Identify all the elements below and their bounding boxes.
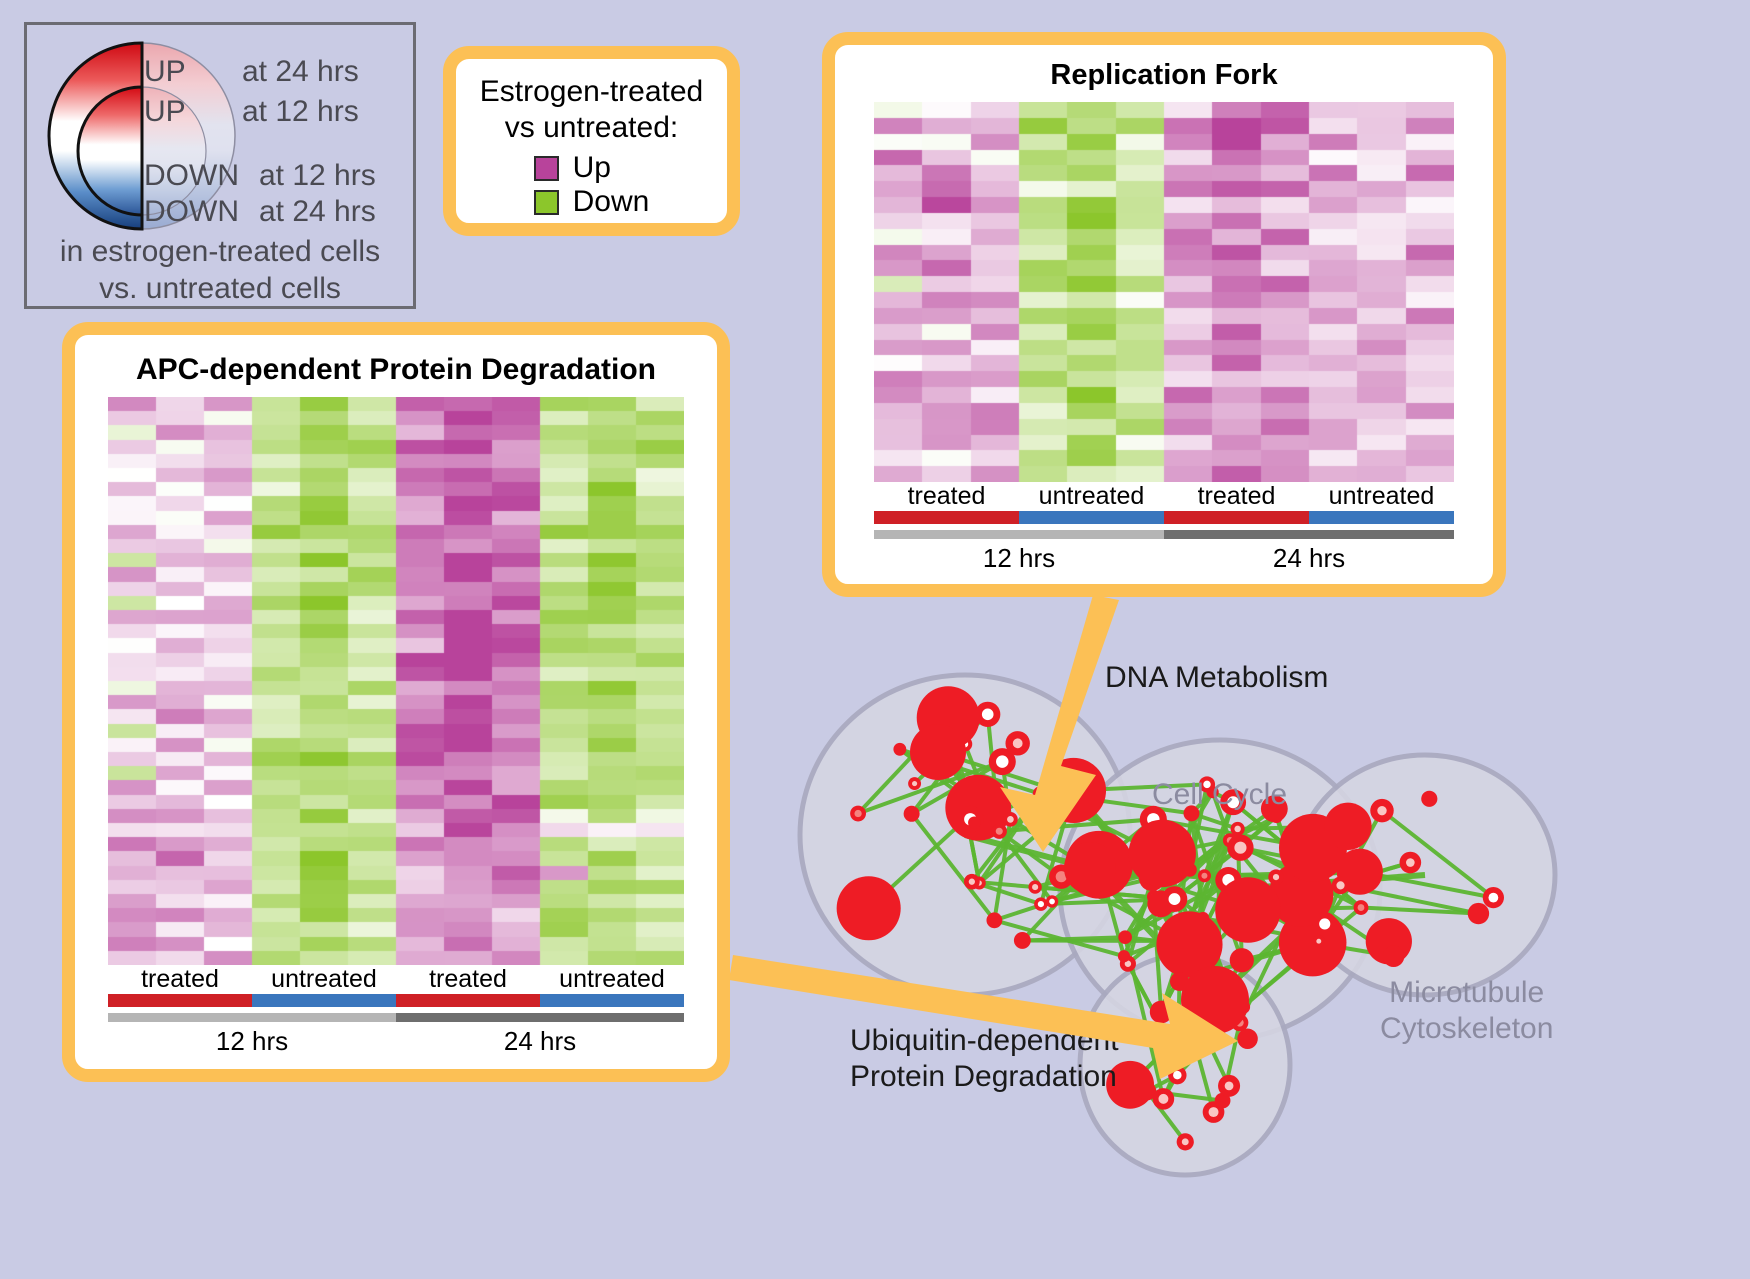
network-node-core xyxy=(996,828,1003,835)
cluster-label-dna-metabolism: DNA Metabolism xyxy=(1105,660,1328,696)
legend-footer: in estrogen-treated cells vs. untreated … xyxy=(27,233,413,307)
network-node-core xyxy=(1225,1081,1234,1090)
network-node xyxy=(1014,932,1031,949)
group-label-untreated-3: untreated xyxy=(1309,482,1454,511)
network-node-core xyxy=(1209,1107,1219,1117)
legend-footer-line2: vs. untreated cells xyxy=(27,270,413,307)
time-bar-1 xyxy=(1164,530,1454,539)
figure-root: UP at 24 hrs UP at 12 hrs DOWN at 12 hrs… xyxy=(0,0,1750,1279)
legend2-item-up: Up xyxy=(534,152,650,184)
group-label-treated-2: treated xyxy=(396,965,540,994)
legend-dir-1: UP xyxy=(144,97,186,127)
time-bar-0 xyxy=(108,1013,396,1022)
group-label-untreated-3: untreated xyxy=(540,965,684,994)
network-node xyxy=(1237,1029,1257,1049)
replication-panel-title: Replication Fork xyxy=(835,59,1493,92)
legend-footer-line1: in estrogen-treated cells xyxy=(27,233,413,270)
panel-replication-fork: Replication Fork treateduntreatedtreated… xyxy=(822,32,1506,597)
replication-heatmap xyxy=(874,102,1454,482)
cluster-label-microtubule: Microtubule Cytoskeleton xyxy=(1380,975,1553,1047)
network-node-core xyxy=(1406,858,1415,867)
group-bar-untreated-3 xyxy=(1309,511,1454,524)
network-node xyxy=(1215,877,1281,943)
time-label-1: 24 hrs xyxy=(396,1022,684,1057)
network-node xyxy=(1230,948,1254,972)
network-node xyxy=(837,876,901,940)
network-node-core xyxy=(1038,901,1044,907)
network-node xyxy=(1181,966,1249,1034)
network-node-core xyxy=(1234,826,1241,833)
legend-time-2: at 12 hrs xyxy=(259,161,376,191)
apc-group-bars xyxy=(108,994,684,1007)
group-bar-untreated-1 xyxy=(252,994,396,1007)
network-node-core xyxy=(1234,842,1246,854)
network-node xyxy=(1118,930,1132,944)
replication-time-bars xyxy=(874,530,1454,539)
legend-expression-box: Estrogen-treated vs untreated: Up Down xyxy=(443,46,740,236)
legend2-title-line1: Estrogen-treated xyxy=(456,74,727,110)
down-color-swatch xyxy=(534,190,559,215)
network-node-core xyxy=(969,879,975,885)
legend-dir-3: DOWN xyxy=(144,197,239,227)
network-node-core xyxy=(1169,893,1181,905)
cluster-label-ubiquitin: Ubiquitin-dependent Protein Degradation xyxy=(850,1023,1119,1095)
legend-direction-box: UP at 24 hrs UP at 12 hrs DOWN at 12 hrs… xyxy=(24,22,416,309)
network-node-core xyxy=(912,781,917,786)
network-node xyxy=(1383,945,1405,967)
group-bar-treated-0 xyxy=(874,511,1019,524)
legend2-item-down: Down xyxy=(534,186,650,218)
network-node xyxy=(1041,758,1106,823)
network-node-core xyxy=(1158,1094,1168,1104)
cluster-label-cell-cycle: Cell Cycle xyxy=(1152,777,1287,813)
network-node-core xyxy=(1336,881,1344,889)
legend-time-0: at 24 hrs xyxy=(242,57,359,87)
network-node xyxy=(986,912,1002,928)
network-node-core xyxy=(1316,939,1321,944)
legend-time-3: at 24 hrs xyxy=(259,197,376,227)
group-bar-untreated-1 xyxy=(1019,511,1164,524)
network-node-core xyxy=(996,755,1008,767)
network-svg xyxy=(760,600,1750,1279)
apc-time-bars xyxy=(108,1013,684,1022)
apc-time-labels: 12 hrs24 hrs xyxy=(108,1022,684,1057)
time-bar-0 xyxy=(874,530,1164,539)
group-bar-untreated-3 xyxy=(540,994,684,1007)
legend-time-1: at 12 hrs xyxy=(242,97,359,127)
network-node xyxy=(1421,791,1437,807)
network-node-core xyxy=(1273,874,1279,880)
network-node-core xyxy=(1173,1071,1181,1079)
replication-time-labels: 12 hrs24 hrs xyxy=(874,539,1454,574)
network-node xyxy=(1468,903,1489,924)
network-node-core xyxy=(1377,806,1386,815)
legend-dir-2: DOWN xyxy=(144,161,239,191)
network-node-core xyxy=(1007,816,1014,823)
group-bar-treated-0 xyxy=(108,994,252,1007)
network-node-core xyxy=(1201,873,1207,879)
group-label-treated-0: treated xyxy=(108,965,252,994)
legend2-label-down: Down xyxy=(573,186,650,218)
apc-panel-title: APC-dependent Protein Degradation xyxy=(75,353,717,387)
up-color-swatch xyxy=(534,156,559,181)
network-node xyxy=(1064,842,1116,894)
time-bar-1 xyxy=(396,1013,684,1022)
network-node xyxy=(1324,803,1371,850)
network-node-core xyxy=(1182,1138,1189,1145)
network-node xyxy=(968,816,981,829)
network-node xyxy=(1129,820,1196,887)
replication-group-labels: treateduntreatedtreateduntreated xyxy=(874,482,1454,511)
network-node-core xyxy=(1032,884,1038,890)
network-node xyxy=(893,743,906,756)
group-label-treated-2: treated xyxy=(1164,482,1309,511)
network-node-core xyxy=(854,810,861,817)
time-label-0: 12 hrs xyxy=(108,1022,396,1057)
group-label-untreated-1: untreated xyxy=(1019,482,1164,511)
network-node-core xyxy=(1049,899,1055,905)
network-node xyxy=(1150,1001,1173,1024)
group-bar-treated-2 xyxy=(396,994,540,1007)
legend-dir-0: UP xyxy=(144,57,186,87)
network-node xyxy=(904,806,920,822)
network-node-core xyxy=(1319,918,1330,929)
network-node-core xyxy=(982,709,994,721)
network-node xyxy=(1118,950,1130,962)
network-node-core xyxy=(1358,904,1365,911)
time-label-0: 12 hrs xyxy=(874,539,1164,574)
replication-group-bars xyxy=(874,511,1454,524)
pathway-network-diagram: DNA Metabolism Cell Cycle Microtubule Cy… xyxy=(760,600,1750,1279)
network-node-core xyxy=(1013,738,1023,748)
legend2-label-up: Up xyxy=(573,152,611,184)
time-label-1: 24 hrs xyxy=(1164,539,1454,574)
apc-group-labels: treateduntreatedtreateduntreated xyxy=(108,965,684,994)
legend2-title-line2: vs untreated: xyxy=(456,110,727,146)
panel-apc-degradation: APC-dependent Protein Degradation treate… xyxy=(62,322,730,1082)
group-label-treated-0: treated xyxy=(874,482,1019,511)
group-bar-treated-2 xyxy=(1164,511,1309,524)
apc-heatmap xyxy=(108,397,684,965)
network-node-core xyxy=(1488,893,1498,903)
group-label-untreated-1: untreated xyxy=(252,965,396,994)
network-node xyxy=(910,724,966,780)
